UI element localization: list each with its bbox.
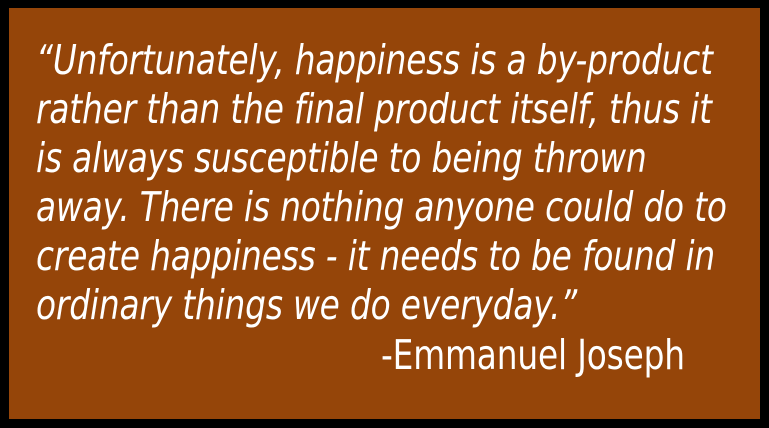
quote-line: create happiness - it needs to be found … (36, 232, 596, 281)
attribution-author: -Emmanuel Joseph (381, 330, 685, 380)
quote-panel: “Unfortunately, happiness is a by-produc… (9, 8, 760, 419)
quote-card: “Unfortunately, happiness is a by-produc… (0, 0, 769, 428)
quote-text-block: “Unfortunately, happiness is a by-produc… (36, 36, 736, 330)
attribution-row: -Emmanuel Joseph (36, 330, 685, 380)
quote-line: “Unfortunately, happiness is a by-produc… (36, 36, 596, 85)
quote-line: away. There is nothing anyone could do t… (36, 183, 596, 232)
quote-line: rather than the final product itself, th… (36, 85, 596, 134)
quote-line: is always susceptible to being thrown (36, 134, 596, 183)
quote-line: ordinary things we do everyday.” (36, 281, 596, 330)
